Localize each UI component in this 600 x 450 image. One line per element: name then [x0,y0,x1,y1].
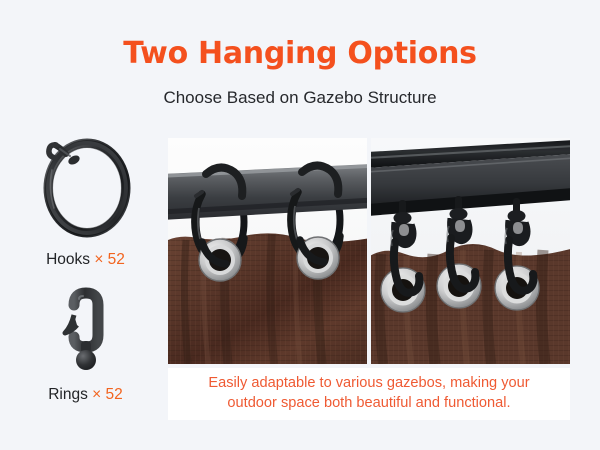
snap-hook-icon [8,287,163,380]
caption-text: Easily adaptable to various gazebos, mak… [208,374,529,413]
promo-banner: Two Hanging Options Choose Based on Gaze… [0,0,600,450]
page-subtitle: Choose Based on Gazebo Structure [0,88,600,108]
product-item-rings: Rings × 52 [8,287,163,404]
product-label-hooks: Hooks × 52 [8,251,163,269]
gallery-caption: Easily adaptable to various gazebos, mak… [168,368,570,420]
product-spacer [8,269,163,287]
product-item-hooks: Hooks × 52 [8,132,163,269]
page-title: Two Hanging Options [0,36,600,71]
rings-on-pole-photo [168,138,367,364]
product-name-rings: Rings [48,386,88,403]
caption-line-2: outdoor space both beautiful and functio… [227,395,510,411]
product-list: Hooks × 52 [8,132,163,404]
product-label-rings: Rings × 52 [8,386,163,404]
photo-gallery [168,138,570,364]
product-count-hooks: × 52 [94,251,125,268]
curtain-ring-icon [8,132,163,245]
hooks-on-rail-photo [371,138,570,364]
product-count-rings: × 52 [92,386,123,403]
caption-line-1: Easily adaptable to various gazebos, mak… [208,375,529,391]
product-name-hooks: Hooks [46,251,90,268]
